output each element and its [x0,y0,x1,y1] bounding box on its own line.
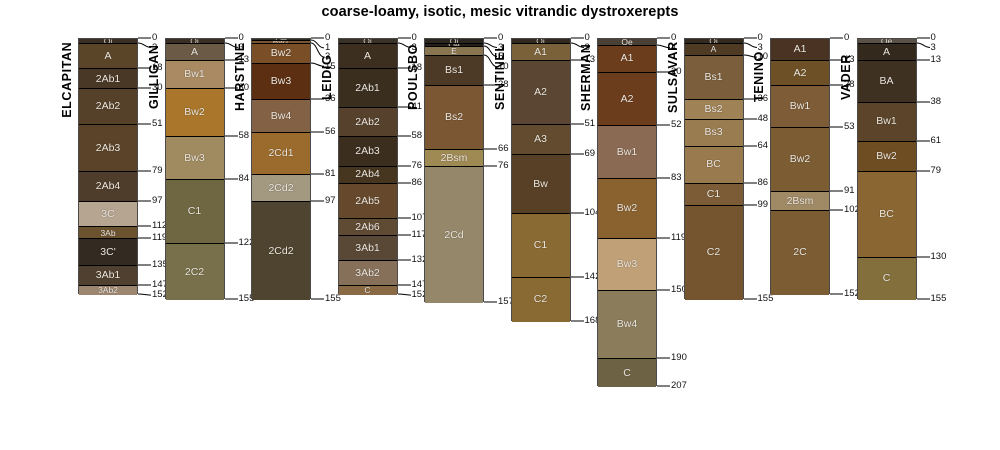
horizon[interactable]: 3Ab1 [339,236,397,261]
horizon-label: BC [706,159,721,170]
depth-tick-label: 155 [758,294,774,304]
horizon[interactable]: A [858,44,916,61]
horizon[interactable]: Oe [598,39,656,46]
horizon[interactable]: E [425,47,483,55]
horizon[interactable]: BA [858,61,916,103]
soil-column-sentinel[interactable]: OiA1A2A3BwC1C2 [511,38,571,321]
horizon-label: Bw2 [617,203,637,214]
horizon[interactable]: A [166,44,224,61]
horizon[interactable]: Bs2 [685,100,743,120]
horizon[interactable]: Bw2 [858,142,916,172]
depth-tick-label: 155 [931,294,947,304]
horizon-label: Bw1 [876,116,896,127]
horizon-label: 3Ab [100,229,115,238]
horizon-label: C1 [707,189,720,200]
horizon-label: Bw1 [617,147,637,158]
horizon[interactable]: 2Ab4 [79,172,137,202]
horizon[interactable]: 2Cd [425,167,483,303]
horizon-label: Bs2 [704,104,722,115]
horizon[interactable]: 2Ab6 [339,219,397,236]
horizon[interactable]: Bs1 [425,56,483,86]
horizon-label: 3Ab2 [355,268,380,279]
horizon[interactable]: Bw1 [598,126,656,178]
horizon[interactable]: 2Ab3 [339,137,397,167]
horizon-label: Bw3 [271,76,291,87]
horizon[interactable]: Bw3 [598,239,656,291]
profile-name-gilligan: GILLIGAN [147,38,161,116]
horizon-label: 2Ab4 [355,169,380,180]
horizon[interactable]: A3 [512,125,570,155]
horizon[interactable]: 2Bsm [425,150,483,167]
horizon-label: BA [879,76,893,87]
horizon[interactable]: 2Ab5 [339,184,397,219]
depth-tick-label: 207 [671,381,687,391]
profile-name-leidig: LEIDIG [320,38,334,116]
depth-tick-label: 53 [844,122,855,132]
soil-column-vader[interactable]: OeABABw1Bw2BCC [857,38,917,299]
depth-tick-label: 64 [758,141,769,151]
horizon-label: 2Ab6 [355,222,380,233]
horizon-label: 2Ab3 [96,143,121,154]
horizon[interactable]: 3C' [79,239,137,266]
horizon-label: Bs1 [445,65,463,76]
depth-tick-label: 97 [152,196,163,206]
horizon-label: Bw4 [617,319,637,330]
horizon-label: 2C [793,247,806,258]
soil-profile-chart: coarse-loamy, isotic, mesic vitrandic dy… [0,0,1000,450]
depth-tick-label: 86 [412,178,423,188]
horizon-label: A1 [794,44,807,55]
horizon-label: 2Cd2 [268,246,293,257]
soil-column-tenino[interactable]: A1A2Bw1Bw22Bsm2C [770,38,830,294]
horizon[interactable]: Bw1 [166,61,224,90]
depth-tick-label: 56 [325,127,336,137]
horizon[interactable]: Bw2 [166,89,224,136]
horizon-label: 2Ab3 [355,146,380,157]
horizon-label: A1 [534,47,547,58]
horizon[interactable]: 2Cd2 [252,202,310,300]
horizon-label: 3Ab1 [96,270,121,281]
profile-name-sherman: SHERMAN [579,38,593,116]
horizon-label: A1 [621,53,634,64]
soil-column-elcapitan[interactable]: OiA2Ab12Ab22Ab32Ab43C3Ab3C'3Ab13Ab2 [78,38,138,294]
horizon[interactable]: 3Ab1 [79,266,137,286]
profile-name-sulsavar: SULSAVAR [666,38,680,116]
horizon[interactable]: 2Ab4 [339,167,397,184]
horizon[interactable]: Bw [512,155,570,214]
horizon[interactable]: A2 [598,73,656,127]
horizon-label: C [364,286,370,294]
horizon-label: 2Cd2 [268,183,293,194]
horizon-label: Bs1 [704,72,722,83]
horizon-label: Bw3 [184,153,204,164]
horizon-label: A2 [621,94,634,105]
horizon-label: Bs3 [704,127,722,138]
depth-tick-label: 97 [325,196,336,206]
horizon[interactable]: C [339,286,397,294]
depth-tick-label: 99 [758,200,769,210]
profile-name-vader: VADER [839,38,853,116]
horizon[interactable]: 3Ab2 [339,261,397,286]
horizon-label: Oe [621,39,632,46]
horizon[interactable]: 2C2 [166,244,224,300]
horizon-label: A [191,47,198,58]
horizon-label: A [104,51,111,62]
depth-tick-label: 91 [844,186,855,196]
horizon[interactable]: 2C [771,211,829,295]
soil-column-gilligan[interactable]: OiABw1Bw2Bw3C12C2 [165,38,225,299]
horizon-label: C1 [188,206,201,217]
horizon[interactable]: Bw3 [252,64,310,99]
horizon-label: Bw1 [184,69,204,80]
horizon[interactable]: 2Cd2 [252,175,310,202]
horizon-label: 2Ab2 [355,117,380,128]
horizon-label: 2Ab5 [355,196,380,207]
depth-tick-label: 81 [325,169,336,179]
horizon-label: Bw [533,179,548,190]
horizon[interactable]: 3C [79,202,137,227]
depth-tick-label: 3 [931,43,936,53]
depth-tick-label: 84 [239,174,250,184]
horizon-label: 2C2 [185,267,204,278]
horizon-label: Bw2 [271,48,291,59]
depth-tick-label: 58 [412,131,423,141]
horizon[interactable]: Bw4 [252,100,310,134]
horizon[interactable]: BC [685,147,743,184]
horizon-label: 2Ab1 [355,83,380,94]
horizon[interactable]: 2Cd1 [252,133,310,175]
horizon[interactable]: 2Ab1 [79,69,137,89]
horizon-label: 3C' [100,247,115,258]
horizon[interactable]: Bw3 [166,137,224,181]
horizon-label: Bw2 [184,107,204,118]
horizon[interactable]: Bs2 [425,86,483,150]
horizon-label: 2Cd1 [268,148,293,159]
horizon[interactable]: Bs3 [685,120,743,147]
horizon-label: 2Cd [444,230,463,241]
horizon[interactable]: A [685,44,743,56]
horizon-label: Bw2 [790,154,810,165]
depth-tick-label: 76 [498,161,509,171]
horizon-label: 3Ab2 [98,286,118,294]
profile-name-elcapitan: ELCAPITAN [60,38,74,121]
profile-name-tenino: TENINO [752,38,766,116]
depth-tick-label: 66 [498,144,509,154]
depth-tick-label: 86 [758,178,769,188]
horizon-label: 2Ab1 [96,74,121,85]
depth-tick-label: 190 [671,353,687,363]
depth-tick-label: 155 [325,294,341,304]
depth-tick-label: 83 [671,173,682,183]
horizon[interactable]: A1 [771,39,829,61]
horizon-label: C [883,273,891,284]
horizon-label: 3Ab1 [355,243,380,254]
horizon[interactable]: A1 [512,44,570,61]
horizon-label: 2Ab2 [96,101,121,112]
horizon-label: 3C [101,209,114,220]
horizon[interactable]: A2 [771,61,829,86]
soil-column-sulsavar[interactable]: OiABs1Bs2Bs3BCC1C2 [684,38,744,299]
horizon-label: A [883,47,890,58]
horizon[interactable]: 3Ab [79,227,137,239]
soil-column-poulsbo[interactable]: OiOeEBs1Bs22Bsm2Cd [424,38,484,302]
horizon[interactable]: C [598,359,656,388]
horizon-label: E [451,47,457,55]
horizon[interactable]: Bw2 [771,128,829,192]
horizon[interactable]: A2 [512,61,570,125]
horizon[interactable]: A1 [598,46,656,73]
horizon[interactable]: 2Ab2 [339,108,397,137]
horizon[interactable]: BC [858,172,916,258]
depth-tick-label: 52 [671,120,682,130]
soil-column-harstine[interactable]: OeBw1Bw2Bw3Bw42Cd12Cd22Cd2 [251,38,311,299]
horizon[interactable]: A [79,44,137,69]
horizon[interactable]: 3Ab2 [79,286,137,294]
horizon-label: A2 [794,68,807,79]
depth-tick-label: 130 [931,252,947,262]
horizon-label: A3 [534,134,547,145]
profile-name-sentinel: SENTINEL [493,38,507,116]
horizon-label: Bw1 [790,101,810,112]
depth-tick-label: 69 [585,149,596,159]
horizon-label: A2 [534,87,547,98]
horizon-label: C2 [534,294,547,305]
horizon-label: Bw3 [617,259,637,270]
horizon[interactable]: Bw1 [858,103,916,142]
horizon-label: Bw4 [271,111,291,122]
horizon[interactable]: 2Ab2 [79,89,137,124]
horizon[interactable]: Bs1 [685,56,743,100]
horizon-label: A [711,45,717,54]
horizon[interactable]: Bw2 [252,44,310,64]
horizon-label: A [364,51,371,62]
horizon[interactable]: C [858,258,916,300]
chart-title: coarse-loamy, isotic, mesic vitrandic dy… [0,4,1000,20]
horizon[interactable]: Bw2 [598,179,656,240]
horizon[interactable]: 2Ab3 [79,125,137,172]
depth-tick-label: 38 [931,97,942,107]
horizon-label: 2Bsm [441,153,468,164]
horizon[interactable]: Bw4 [598,291,656,358]
depth-tick-label: 13 [931,55,942,65]
depth-tick-label: 61 [931,136,942,146]
horizon[interactable]: C1 [166,180,224,244]
profile-name-poulsbo: POULSBO [406,38,420,116]
horizon[interactable]: C1 [685,184,743,206]
horizon[interactable]: 2Ab1 [339,69,397,108]
horizon-label: C1 [534,240,547,251]
depth-tick-label: 79 [152,166,163,176]
horizon[interactable]: C1 [512,214,570,278]
horizon[interactable]: C2 [685,206,743,300]
horizon-label: 2Bsm [787,196,814,207]
profile-name-harstine: HARSTINE [233,38,247,116]
horizon-label: 2Ab4 [96,181,121,192]
horizon[interactable]: C2 [512,278,570,322]
soil-column-sherman[interactable]: OeA1A2Bw1Bw2Bw3Bw4C [597,38,657,386]
horizon-label: C [623,368,631,379]
horizon-label: Bs2 [445,112,463,123]
horizon-label: C2 [707,247,720,258]
depth-tick-label: 76 [412,161,423,171]
depth-tick-label: 51 [152,119,163,129]
soil-column-leidig[interactable]: OiA2Ab12Ab22Ab32Ab42Ab52Ab63Ab13Ab2C [338,38,398,294]
horizon[interactable]: 2Bsm [771,192,829,211]
horizon[interactable]: A [339,44,397,69]
horizon-label: Bw2 [876,151,896,162]
depth-tick-label: 79 [931,166,942,176]
horizon[interactable]: Bw1 [771,86,829,128]
depth-tick-label: 58 [239,131,250,141]
horizon-label: BC [879,209,894,220]
depth-tick-label: 51 [585,119,596,129]
